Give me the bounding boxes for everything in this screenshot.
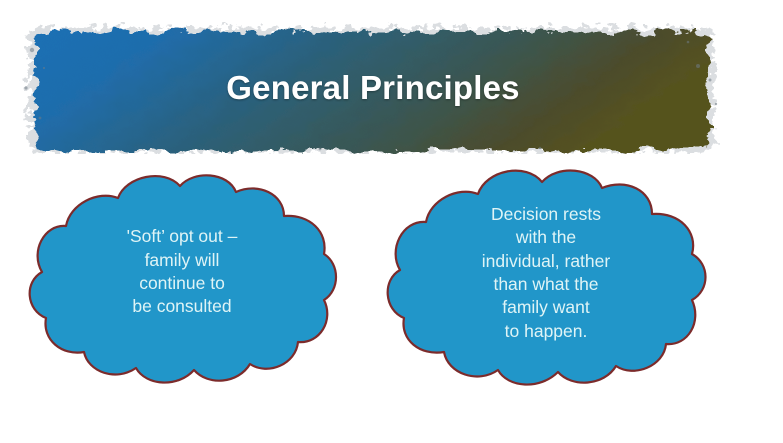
cloud-text-right: Decision rests with the individual, rath… xyxy=(378,166,714,396)
cloud-line: to happen. xyxy=(505,320,588,343)
cloud-line: with the xyxy=(516,226,576,249)
cloud-line: continue to xyxy=(139,272,225,295)
cloud-decision-rests: Decision rests with the individual, rath… xyxy=(378,166,714,396)
cloud-line: family want xyxy=(502,296,590,319)
cloud-line: individual, rather xyxy=(482,250,610,273)
title-banner: General Principles xyxy=(20,22,720,154)
cloud-line: than what the xyxy=(493,273,598,296)
cloud-line: family will xyxy=(145,249,220,272)
cloud-line: Decision rests xyxy=(491,203,601,226)
cloud-line: 'Soft’ opt out – xyxy=(127,225,238,248)
slide-canvas: General Principles 'Soft’ opt out – fami… xyxy=(0,0,783,443)
cloud-text-left: 'Soft’ opt out – family will continue to… xyxy=(22,172,342,394)
page-title: General Principles xyxy=(20,22,720,154)
cloud-line: be consulted xyxy=(132,295,231,318)
cloud-soft-opt-out: 'Soft’ opt out – family will continue to… xyxy=(22,172,342,394)
